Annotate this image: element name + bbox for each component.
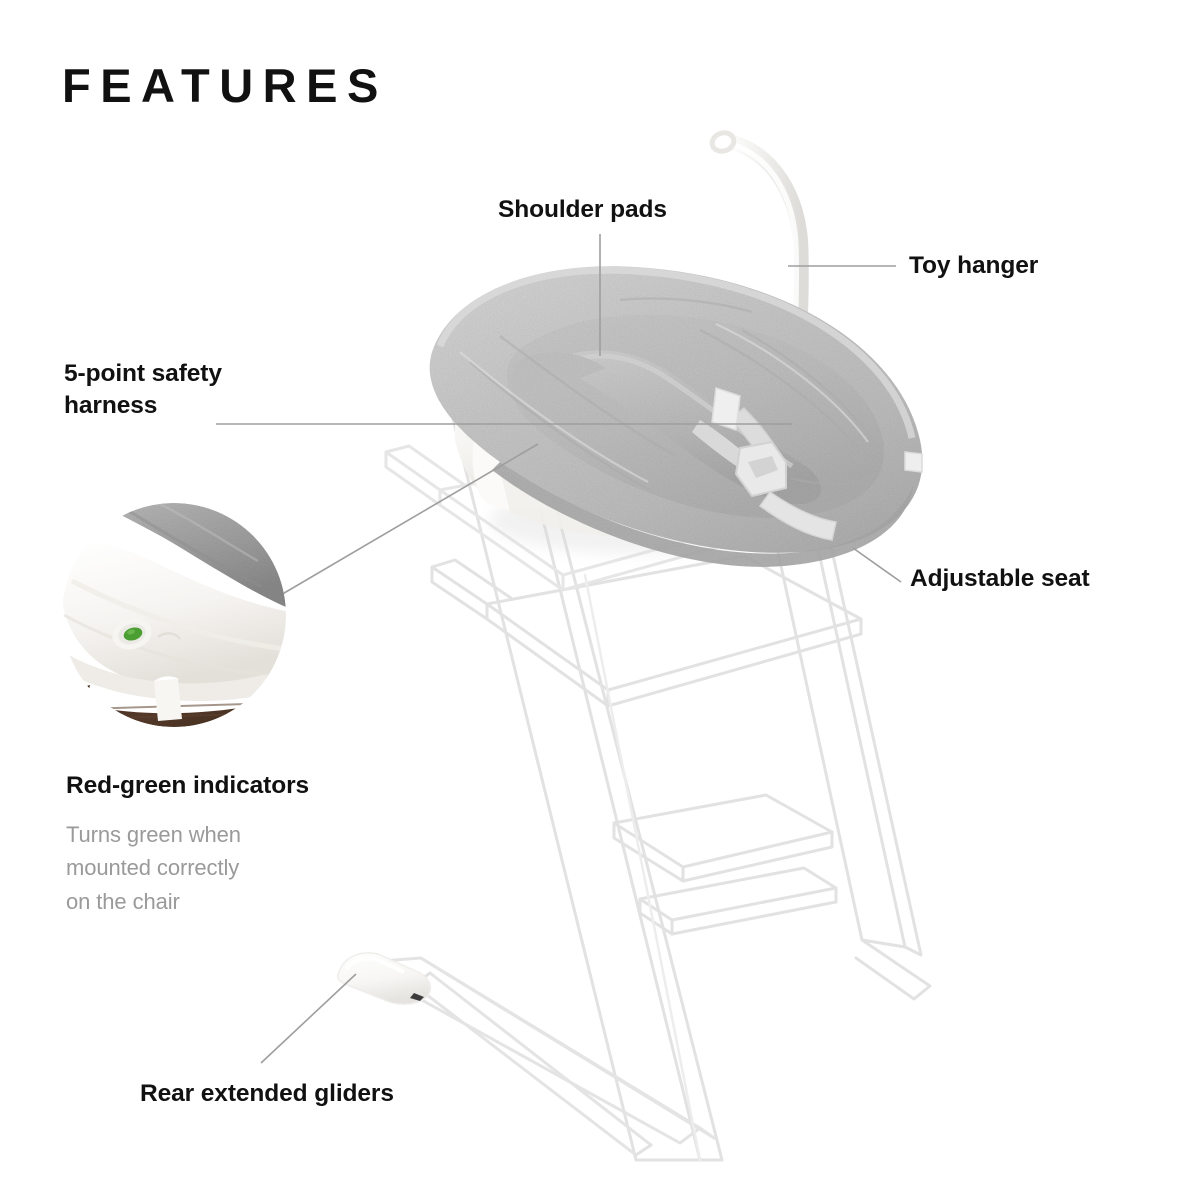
- callout-safety-harness: 5-point safety harness: [64, 358, 222, 423]
- callout-red-green-indicators: Red-green indicators: [66, 770, 309, 802]
- callout-adjustable-seat: Adjustable seat: [910, 563, 1090, 595]
- page-title: FEATURES: [62, 62, 388, 109]
- indicator-closeup-image: [62, 503, 286, 727]
- callout-indicators-description: Turns green when mounted correctly on th…: [66, 818, 241, 918]
- callout-toy-hanger: Toy hanger: [909, 250, 1038, 282]
- leader-gliders: [261, 974, 356, 1063]
- features-diagram: FEATURES Shoulder pads Toy hanger 5-poin…: [0, 0, 1200, 1200]
- indicator-closeup-inset: [62, 503, 286, 727]
- callout-shoulder-pads: Shoulder pads: [498, 194, 667, 226]
- callout-rear-extended-gliders: Rear extended gliders: [140, 1078, 394, 1110]
- leader-adjustable-seat: [853, 548, 901, 582]
